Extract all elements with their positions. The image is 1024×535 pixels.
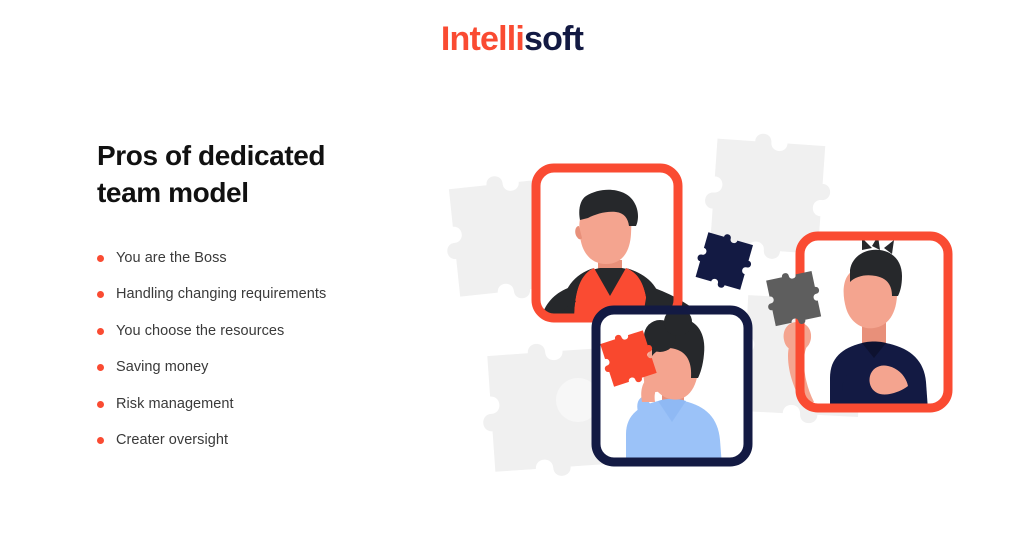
list-item-label: You choose the resources [116,324,284,339]
page-title: Pros of dedicated team model [97,138,407,212]
list-item-label: Handling changing requirements [116,287,326,302]
list-item: Handling changing requirements [97,276,407,313]
list-item-label: Saving money [116,360,209,375]
bullet-dot-icon [97,291,104,298]
list-item-label: You are the Boss [116,251,227,266]
bullet-dot-icon [97,437,104,444]
list-item-label: Creater oversight [116,433,228,448]
bullet-dot-icon [97,328,104,335]
bullet-dot-icon [97,255,104,262]
logo-text-soft: soft [524,20,583,58]
list-item: Creater oversight [97,422,407,459]
list-item: You choose the resources [97,313,407,350]
card-bottom-center [596,308,748,466]
pros-list: You are the Boss Handling changing requi… [97,240,407,459]
list-item-label: Risk management [116,397,234,412]
logo-text-intelli: Intelli [441,20,524,58]
list-item: Risk management [97,386,407,423]
list-item: You are the Boss [97,240,407,277]
card-right [784,236,948,410]
bullet-dot-icon [97,364,104,371]
illustration-three-people-puzzle [410,110,1024,490]
brand-logo: Intellisoft [0,22,1024,56]
left-content-column: Pros of dedicated team model You are the… [97,138,407,459]
list-item: Saving money [97,349,407,386]
bullet-dot-icon [97,401,104,408]
